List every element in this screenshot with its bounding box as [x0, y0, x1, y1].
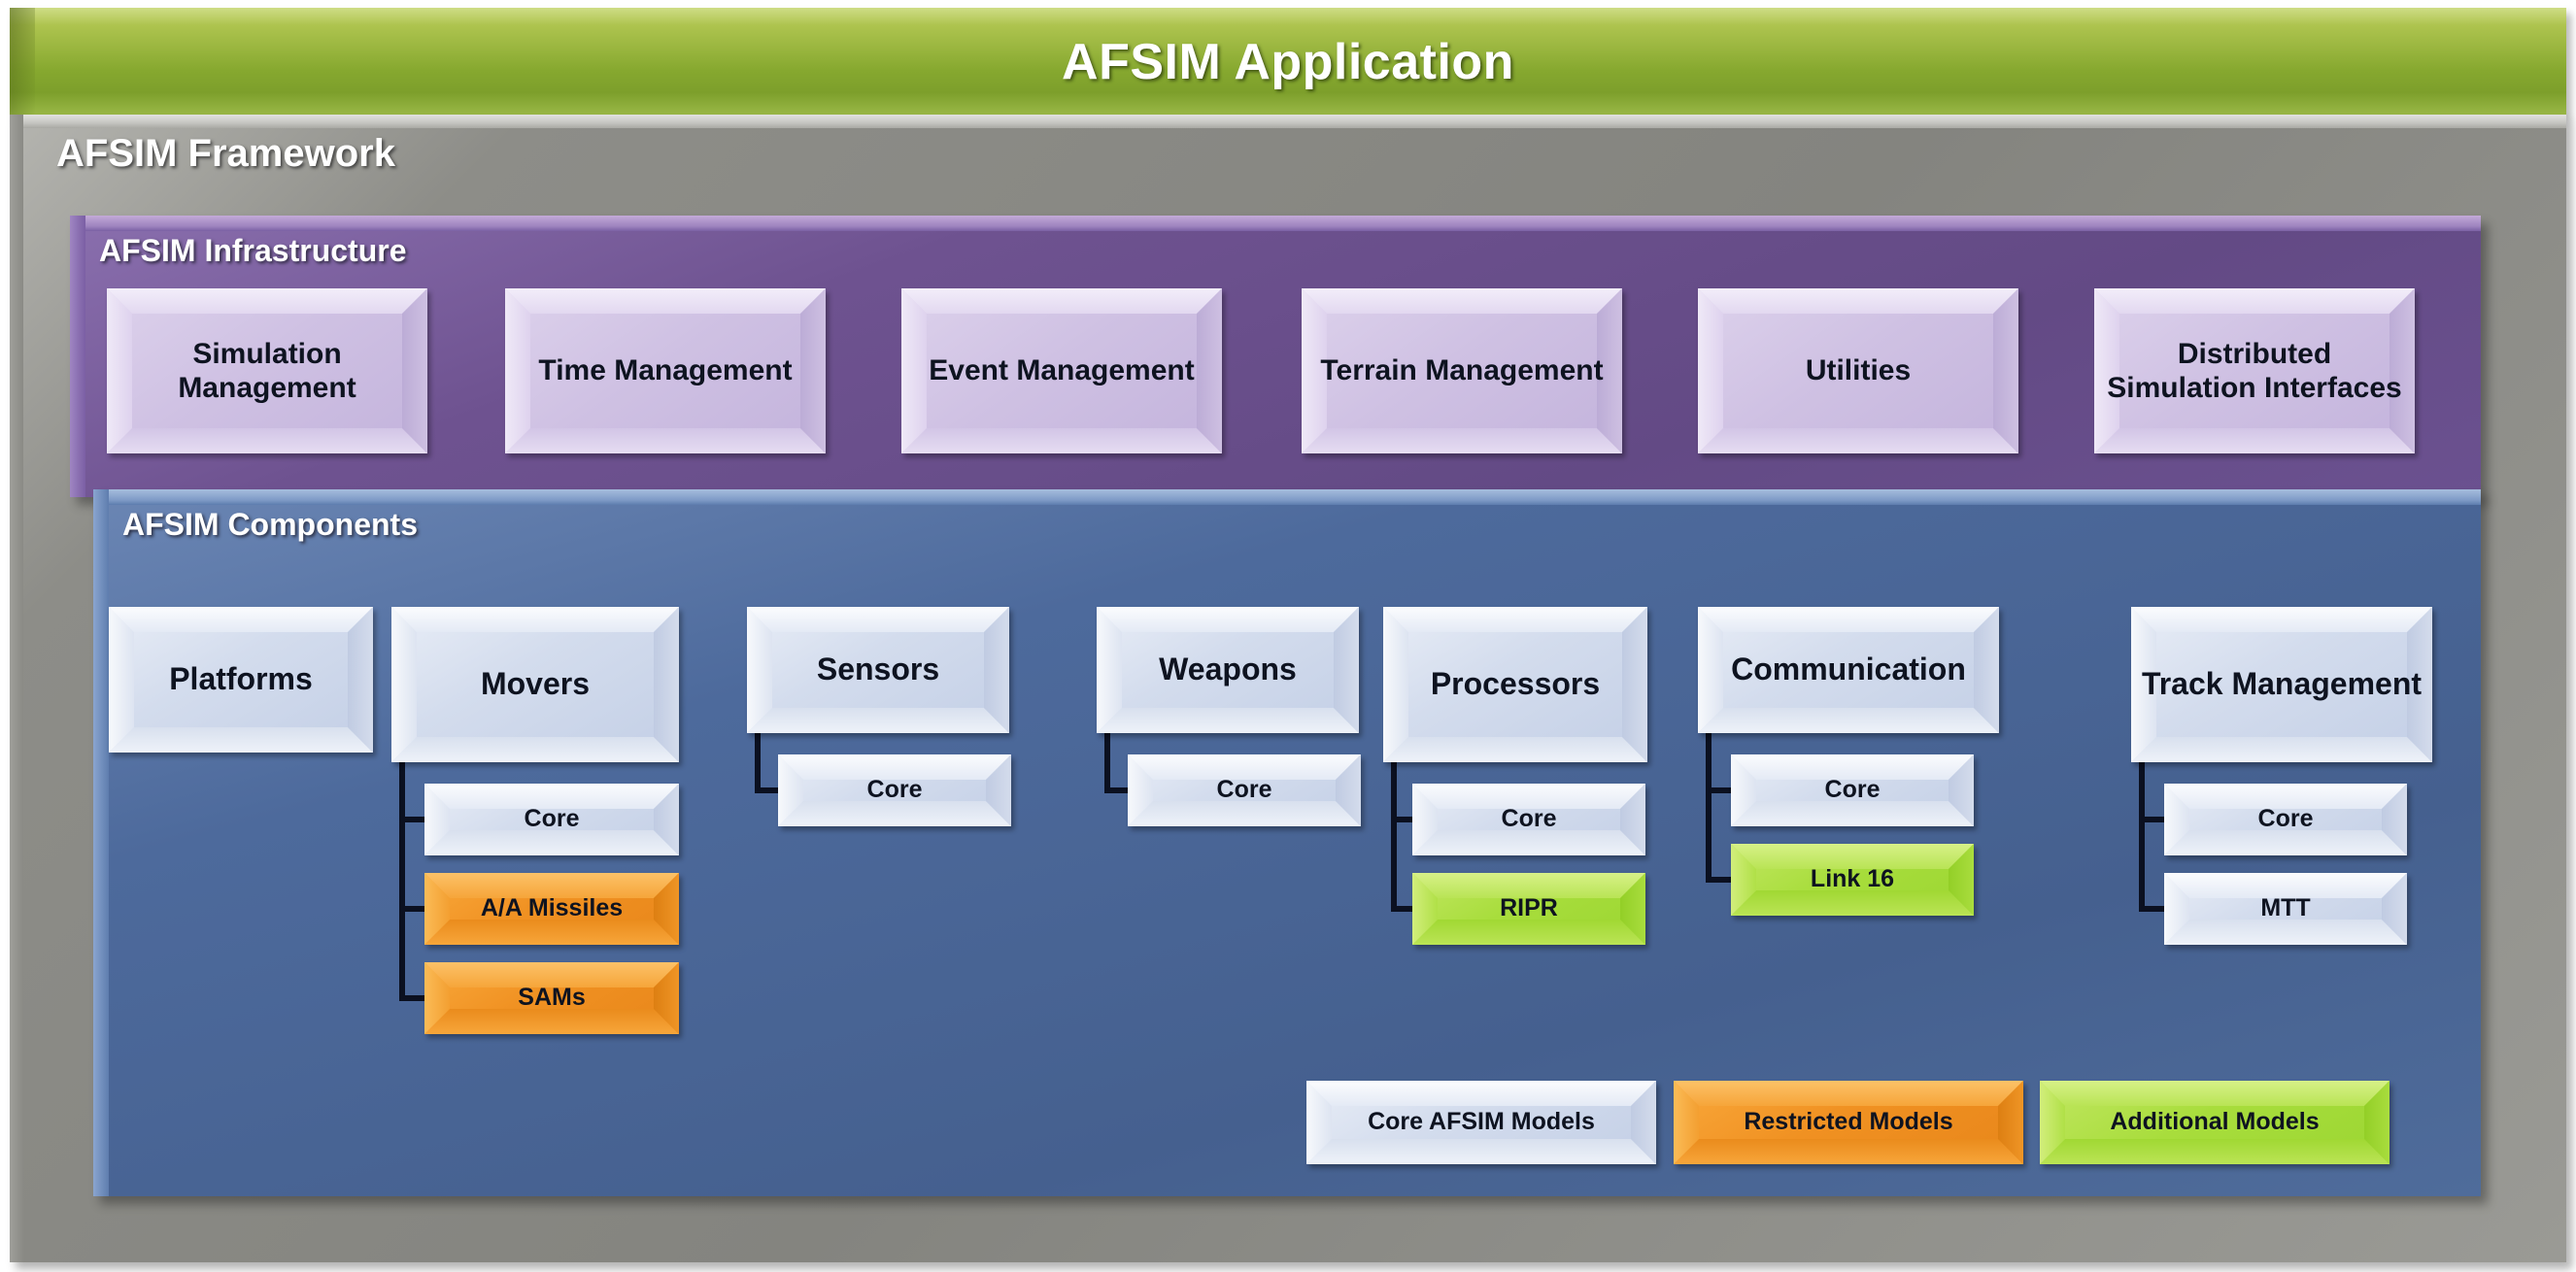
bevel-face-top [505, 288, 826, 314]
bevel-face-top [901, 288, 1222, 314]
component-box-movers[interactable]: Movers [391, 607, 679, 762]
box-label: Movers [475, 666, 595, 703]
bevel-face-bot [1731, 890, 1974, 916]
infrastructure-box-terrain-management[interactable]: Terrain Management [1302, 288, 1622, 453]
bevel-face-bot [1383, 737, 1647, 762]
bevel-face-rgt [1622, 607, 1647, 762]
bevel-face-bot [1128, 801, 1361, 826]
box-label: Communication [1725, 652, 1972, 688]
component-box-processors[interactable]: Processors [1383, 607, 1647, 762]
bevel-face-top [1302, 288, 1622, 314]
infrastructure-box-distributed-simulation-interfaces[interactable]: Distributed Simulation Interfaces [2094, 288, 2415, 453]
panel-bevel-left [93, 489, 109, 1196]
bevel-face-bot [505, 428, 826, 453]
component-child-communication-core[interactable]: Core [1731, 754, 1974, 826]
application-title: AFSIM Application [1062, 33, 1514, 91]
bevel-face-top [747, 607, 1009, 632]
box-label: Time Management [532, 353, 797, 387]
legend-box-core-afsim-models[interactable]: Core AFSIM Models [1306, 1081, 1656, 1164]
bevel-face-bot [1731, 801, 1974, 826]
box-label: MTT [2254, 894, 2316, 923]
legend-box-additional-models[interactable]: Additional Models [2040, 1081, 2390, 1164]
bevel-face-bot [107, 428, 427, 453]
box-label: Event Management [923, 353, 1200, 387]
bevel-face-rgt [800, 288, 826, 453]
bevel-face-bot [1698, 708, 1999, 733]
component-box-weapons[interactable]: Weapons [1097, 607, 1359, 733]
box-label: Terrain Management [1314, 353, 1609, 387]
box-label: Core [519, 805, 586, 834]
connector-stem-movers [399, 756, 405, 1001]
bevel-face-bot [1698, 428, 2018, 453]
box-label: Link 16 [1805, 865, 1900, 894]
bevel-face-bot [778, 801, 1011, 826]
component-child-sensors-core[interactable]: Core [778, 754, 1011, 826]
box-label: Additional Models [2104, 1108, 2324, 1137]
connector-stem-track-management [2139, 756, 2145, 912]
infrastructure-label: AFSIM Infrastructure [99, 233, 406, 269]
component-child-movers-sams[interactable]: SAMs [424, 962, 679, 1034]
bevel-face-bot [109, 727, 373, 753]
box-label: RIPR [1494, 894, 1564, 923]
box-label: Simulation Management [107, 337, 427, 406]
box-label: A/A Missiles [475, 894, 628, 923]
bevel-face-bot [1412, 830, 1645, 855]
bevel-face-bot [1097, 708, 1359, 733]
box-label: Track Management [2136, 666, 2427, 703]
component-box-sensors[interactable]: Sensors [747, 607, 1009, 733]
framework-label: AFSIM Framework [56, 132, 395, 176]
bevel-face-bot [747, 708, 1009, 733]
bevel-face-top [1698, 288, 2018, 314]
panel-bevel-left [70, 216, 85, 497]
box-label: Distributed Simulation Interfaces [2094, 337, 2415, 406]
box-label: Core [1819, 776, 1886, 805]
component-box-platforms[interactable]: Platforms [109, 607, 373, 753]
bevel-face-top [1698, 607, 1999, 632]
box-label: Core [1211, 776, 1278, 805]
bevel-face-bot [1302, 428, 1622, 453]
bevel-face-rgt [1197, 288, 1222, 453]
bevel-face-top [2040, 1081, 2390, 1106]
bevel-face-top [2094, 288, 2415, 314]
connector-stem-sensors [755, 727, 761, 793]
bevel-face-lft [391, 607, 417, 762]
bevel-face-bot [424, 920, 679, 945]
bevel-face-top [107, 288, 427, 314]
connector-stem-communication [1706, 727, 1712, 883]
infrastructure-box-simulation-management[interactable]: Simulation Management [107, 288, 427, 453]
diagram-canvas: AFSIM Application AFSIM Framework AFSIM … [0, 0, 2576, 1272]
bevel-face-bot [424, 1009, 679, 1034]
bevel-face-bot [2094, 428, 2415, 453]
box-label: Platforms [163, 661, 319, 698]
bevel-face-lft [1383, 607, 1408, 762]
box-label: SAMs [512, 984, 591, 1013]
afsim-application-bar: AFSIM Application [10, 8, 2566, 117]
component-child-movers-core[interactable]: Core [424, 784, 679, 855]
box-label: Utilities [1800, 353, 1916, 387]
component-child-communication-link-16[interactable]: Link 16 [1731, 844, 1974, 916]
bevel-face-bot [901, 428, 1222, 453]
bevel-face-bot [424, 830, 679, 855]
infrastructure-box-event-management[interactable]: Event Management [901, 288, 1222, 453]
bevel-face-lft [1698, 288, 1723, 453]
bevel-face-bot [2040, 1139, 2390, 1164]
bevel-face-top [2131, 607, 2432, 632]
bevel-face-bot [2164, 830, 2407, 855]
bevel-face-top [1674, 1081, 2023, 1106]
component-child-track-management-mtt[interactable]: MTT [2164, 873, 2407, 945]
box-label: Sensors [811, 652, 945, 688]
component-box-track-management[interactable]: Track Management [2131, 607, 2432, 762]
component-child-track-management-core[interactable]: Core [2164, 784, 2407, 855]
bevel-face-rgt [654, 607, 679, 762]
bevel-face-top [1097, 607, 1359, 632]
bevel-face-lft [505, 288, 530, 453]
connector-stem-processors [1391, 756, 1397, 912]
panel-bevel-top [93, 489, 2481, 505]
bevel-face-top [1383, 607, 1647, 632]
bevel-face-bot [391, 737, 679, 762]
bevel-face-rgt [1993, 288, 2018, 453]
infrastructure-box-time-management[interactable]: Time Management [505, 288, 826, 453]
component-box-communication[interactable]: Communication [1698, 607, 1999, 733]
box-label: Weapons [1153, 652, 1303, 688]
bevel-face-bot [2164, 920, 2407, 945]
component-child-weapons-core[interactable]: Core [1128, 754, 1361, 826]
component-child-processors-core[interactable]: Core [1412, 784, 1645, 855]
box-label: Core [2253, 805, 2320, 834]
component-child-movers-a-a-missiles[interactable]: A/A Missiles [424, 873, 679, 945]
bevel-face-rgt [348, 607, 373, 753]
connector-stem-weapons [1104, 727, 1110, 793]
bevel-face-bot [1674, 1139, 2023, 1164]
bevel-face-bot [2131, 737, 2432, 762]
box-label: Core AFSIM Models [1362, 1108, 1601, 1137]
component-child-processors-ripr[interactable]: RIPR [1412, 873, 1645, 945]
infrastructure-box-utilities[interactable]: Utilities [1698, 288, 2018, 453]
bevel-face-bot [1412, 920, 1645, 945]
bevel-face-top [391, 607, 679, 632]
components-label: AFSIM Components [122, 507, 418, 543]
box-label: Core [1496, 805, 1563, 834]
bevel-face-lft [109, 607, 134, 753]
box-label: Core [862, 776, 929, 805]
box-label: Processors [1425, 666, 1606, 703]
bevel-face-top [1306, 1081, 1656, 1106]
legend-box-restricted-models[interactable]: Restricted Models [1674, 1081, 2023, 1164]
bevel-face-bot [1306, 1139, 1656, 1164]
box-label: Restricted Models [1738, 1108, 1958, 1137]
bevel-face-top [109, 607, 373, 632]
panel-bevel-top [70, 216, 2481, 231]
